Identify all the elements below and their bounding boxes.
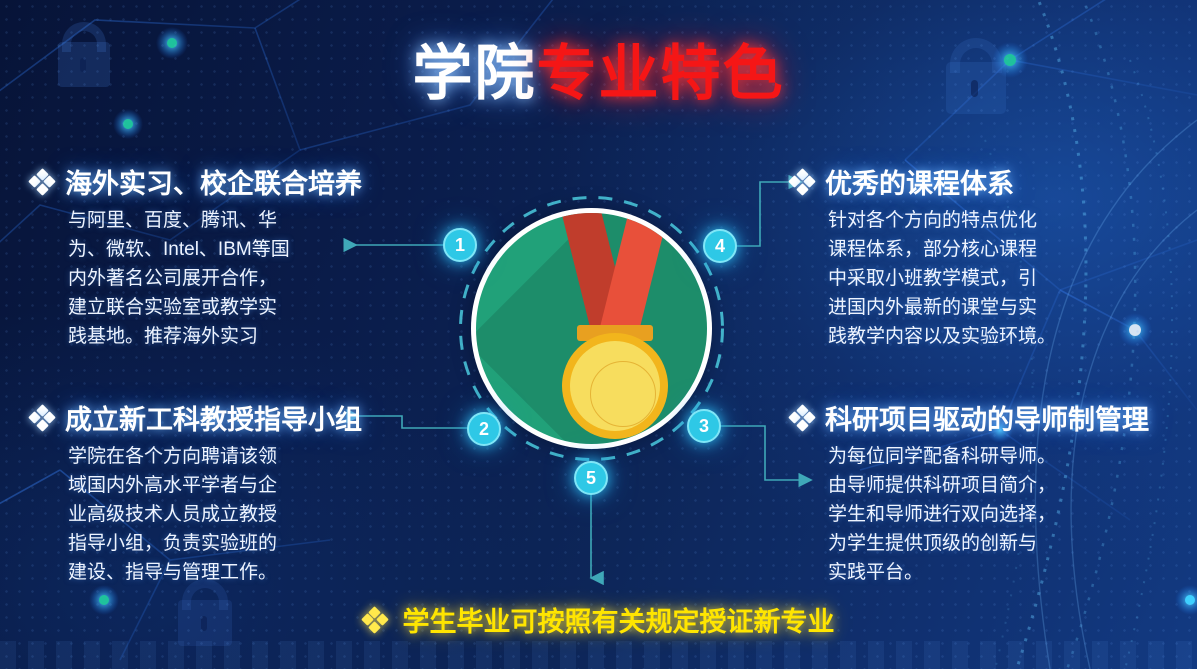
block-heading: 成立新工科教授指导小组 bbox=[65, 398, 362, 437]
medal-coin bbox=[562, 333, 668, 439]
bottom-heading: 学生毕业可按照有关规定授证新专业 bbox=[403, 600, 835, 639]
block-heading-row: 海外实习、校企联合培养 bbox=[30, 162, 420, 201]
block-body: 为每位同学配备科研导师。 由导师提供科研项目简介， 学生和导师进行双向选择， 为… bbox=[828, 443, 1192, 587]
block-heading-row: 优秀的课程体系 bbox=[790, 162, 1190, 201]
coin-inner bbox=[570, 341, 660, 431]
diamond-cluster-icon bbox=[790, 170, 814, 194]
block-heading: 优秀的课程体系 bbox=[825, 162, 1014, 201]
feature-block-overseas-internship: 海外实习、校企联合培养 与阿里、百度、腾讯、华 为、微软、Intel、IBM等国… bbox=[30, 162, 420, 351]
block-heading: 海外实习、校企联合培养 bbox=[65, 162, 362, 201]
coin-ring bbox=[590, 361, 656, 427]
badge-2[interactable]: 2 bbox=[467, 412, 501, 446]
badge-3[interactable]: 3 bbox=[687, 409, 721, 443]
feature-block-professor-guidance-group: 成立新工科教授指导小组 学院在各个方向聘请该领 域国内外高水平学者与企 业高级技… bbox=[30, 398, 420, 587]
block-body: 针对各个方向的特点优化 课程体系，部分核心课程 中采取小班教学模式，引 进国内外… bbox=[828, 207, 1190, 351]
title-white-part: 学院 bbox=[413, 40, 537, 107]
block-body: 与阿里、百度、腾讯、华 为、微软、Intel、IBM等国 内外著名公司展开合作，… bbox=[68, 207, 420, 351]
feature-block-research-driven-mentorship: 科研项目驱动的导师制管理 为每位同学配备科研导师。 由导师提供科研项目简介， 学… bbox=[790, 398, 1192, 587]
diamond-cluster-icon bbox=[30, 170, 54, 194]
block-heading: 科研项目驱动的导师制管理 bbox=[825, 398, 1149, 437]
badge-4[interactable]: 4 bbox=[703, 229, 737, 263]
block-heading-row: 成立新工科教授指导小组 bbox=[30, 398, 420, 437]
feature-block-excellent-curriculum: 优秀的课程体系 针对各个方向的特点优化 课程体系，部分核心课程 中采取小班教学模… bbox=[790, 162, 1190, 351]
block-body: 学院在各个方向聘请该领 域国内外高水平学者与企 业高级技术人员成立教授 指导小组… bbox=[68, 443, 420, 587]
connector-3 bbox=[720, 426, 800, 480]
diamond-cluster-icon bbox=[363, 608, 387, 632]
block-heading-row: 科研项目驱动的导师制管理 bbox=[790, 398, 1192, 437]
badge-1[interactable]: 1 bbox=[443, 228, 477, 262]
title-red-part: 专业特色 bbox=[537, 40, 785, 107]
page-title: 学院专业特色 bbox=[0, 44, 1197, 104]
slide-canvas: 学院专业特色 1 2 3 4 5 海外实习、校企联合培养 与阿里、百度、腾讯、华… bbox=[0, 0, 1197, 669]
diamond-cluster-icon bbox=[790, 406, 814, 430]
diamond-cluster-icon bbox=[30, 406, 54, 430]
medal-disc bbox=[471, 208, 712, 449]
feature-block-new-major-certification: 学生毕业可按照有关规定授证新专业 bbox=[0, 600, 1197, 639]
badge-5[interactable]: 5 bbox=[574, 461, 608, 495]
bottom-square-band bbox=[0, 641, 1197, 669]
